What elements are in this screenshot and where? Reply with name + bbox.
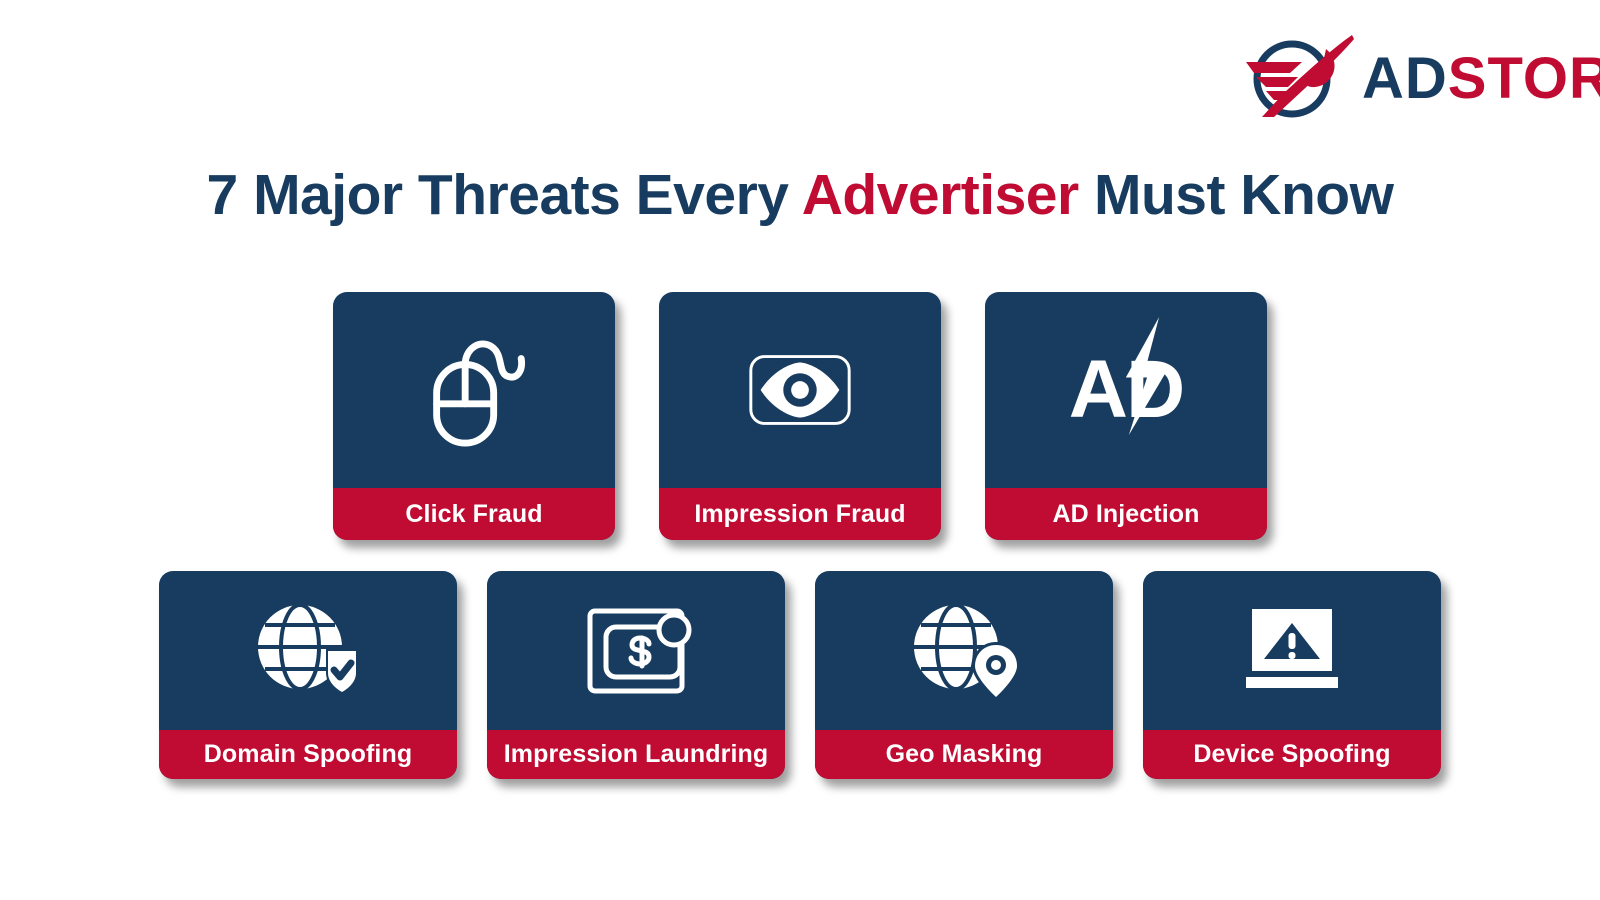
threat-card-click-fraud[interactable]: Click Fraud [333,292,615,540]
globe-shield-check-icon [159,571,457,730]
brand-wordmark-ad: AD [1362,50,1448,108]
brand-wordmark-stork: STORK [1448,50,1600,108]
page-title-part-2: Must Know [1079,163,1394,227]
page-title-part-1: 7 Major Threats Every [207,163,802,227]
threat-card-label: Impression Laundring [487,730,785,779]
page-title: 7 Major Threats Every Advertiser Must Kn… [0,166,1600,226]
brand-wordmark: ADSTORK [1362,50,1600,108]
threat-card-label: Impression Fraud [659,488,941,540]
lightning-bolt-icon [1085,317,1203,435]
threat-card-ad-injection[interactable]: AD AD Injection [985,292,1267,540]
threat-card-geo-masking[interactable]: Geo Masking [815,571,1113,779]
threat-card-impression-laundring[interactable]: Impression Laundring [487,571,785,779]
ad-lightning-bolt-icon: AD [985,292,1267,488]
threat-card-row-two: Domain Spoofing Impression Laundring [0,571,1600,779]
laptop-warning-icon [1143,571,1441,730]
threat-card-row-one: Click Fraud Impression Fraud AD [0,292,1600,540]
threat-card-domain-spoofing[interactable]: Domain Spoofing [159,571,457,779]
threat-card-label: Device Spoofing [1143,730,1441,779]
globe-map-pin-icon [815,571,1113,730]
money-dollar-frame-icon [487,571,785,730]
threat-card-impression-fraud[interactable]: Impression Fraud [659,292,941,540]
eye-in-frame-icon [659,292,941,488]
page-title-accent: Advertiser [802,163,1079,227]
computer-mouse-icon [333,292,615,488]
infographic-canvas: ADSTORK 7 Major Threats Every Advertiser… [0,0,1600,900]
stork-bird-circle-logo [1240,29,1358,129]
threat-card-label: Domain Spoofing [159,730,457,779]
threat-card-label: Geo Masking [815,730,1113,779]
threat-card-label: Click Fraud [333,488,615,540]
threat-card-device-spoofing[interactable]: Device Spoofing [1143,571,1441,779]
brand-logo: ADSTORK [1240,26,1540,132]
threat-card-label: AD Injection [985,488,1267,540]
